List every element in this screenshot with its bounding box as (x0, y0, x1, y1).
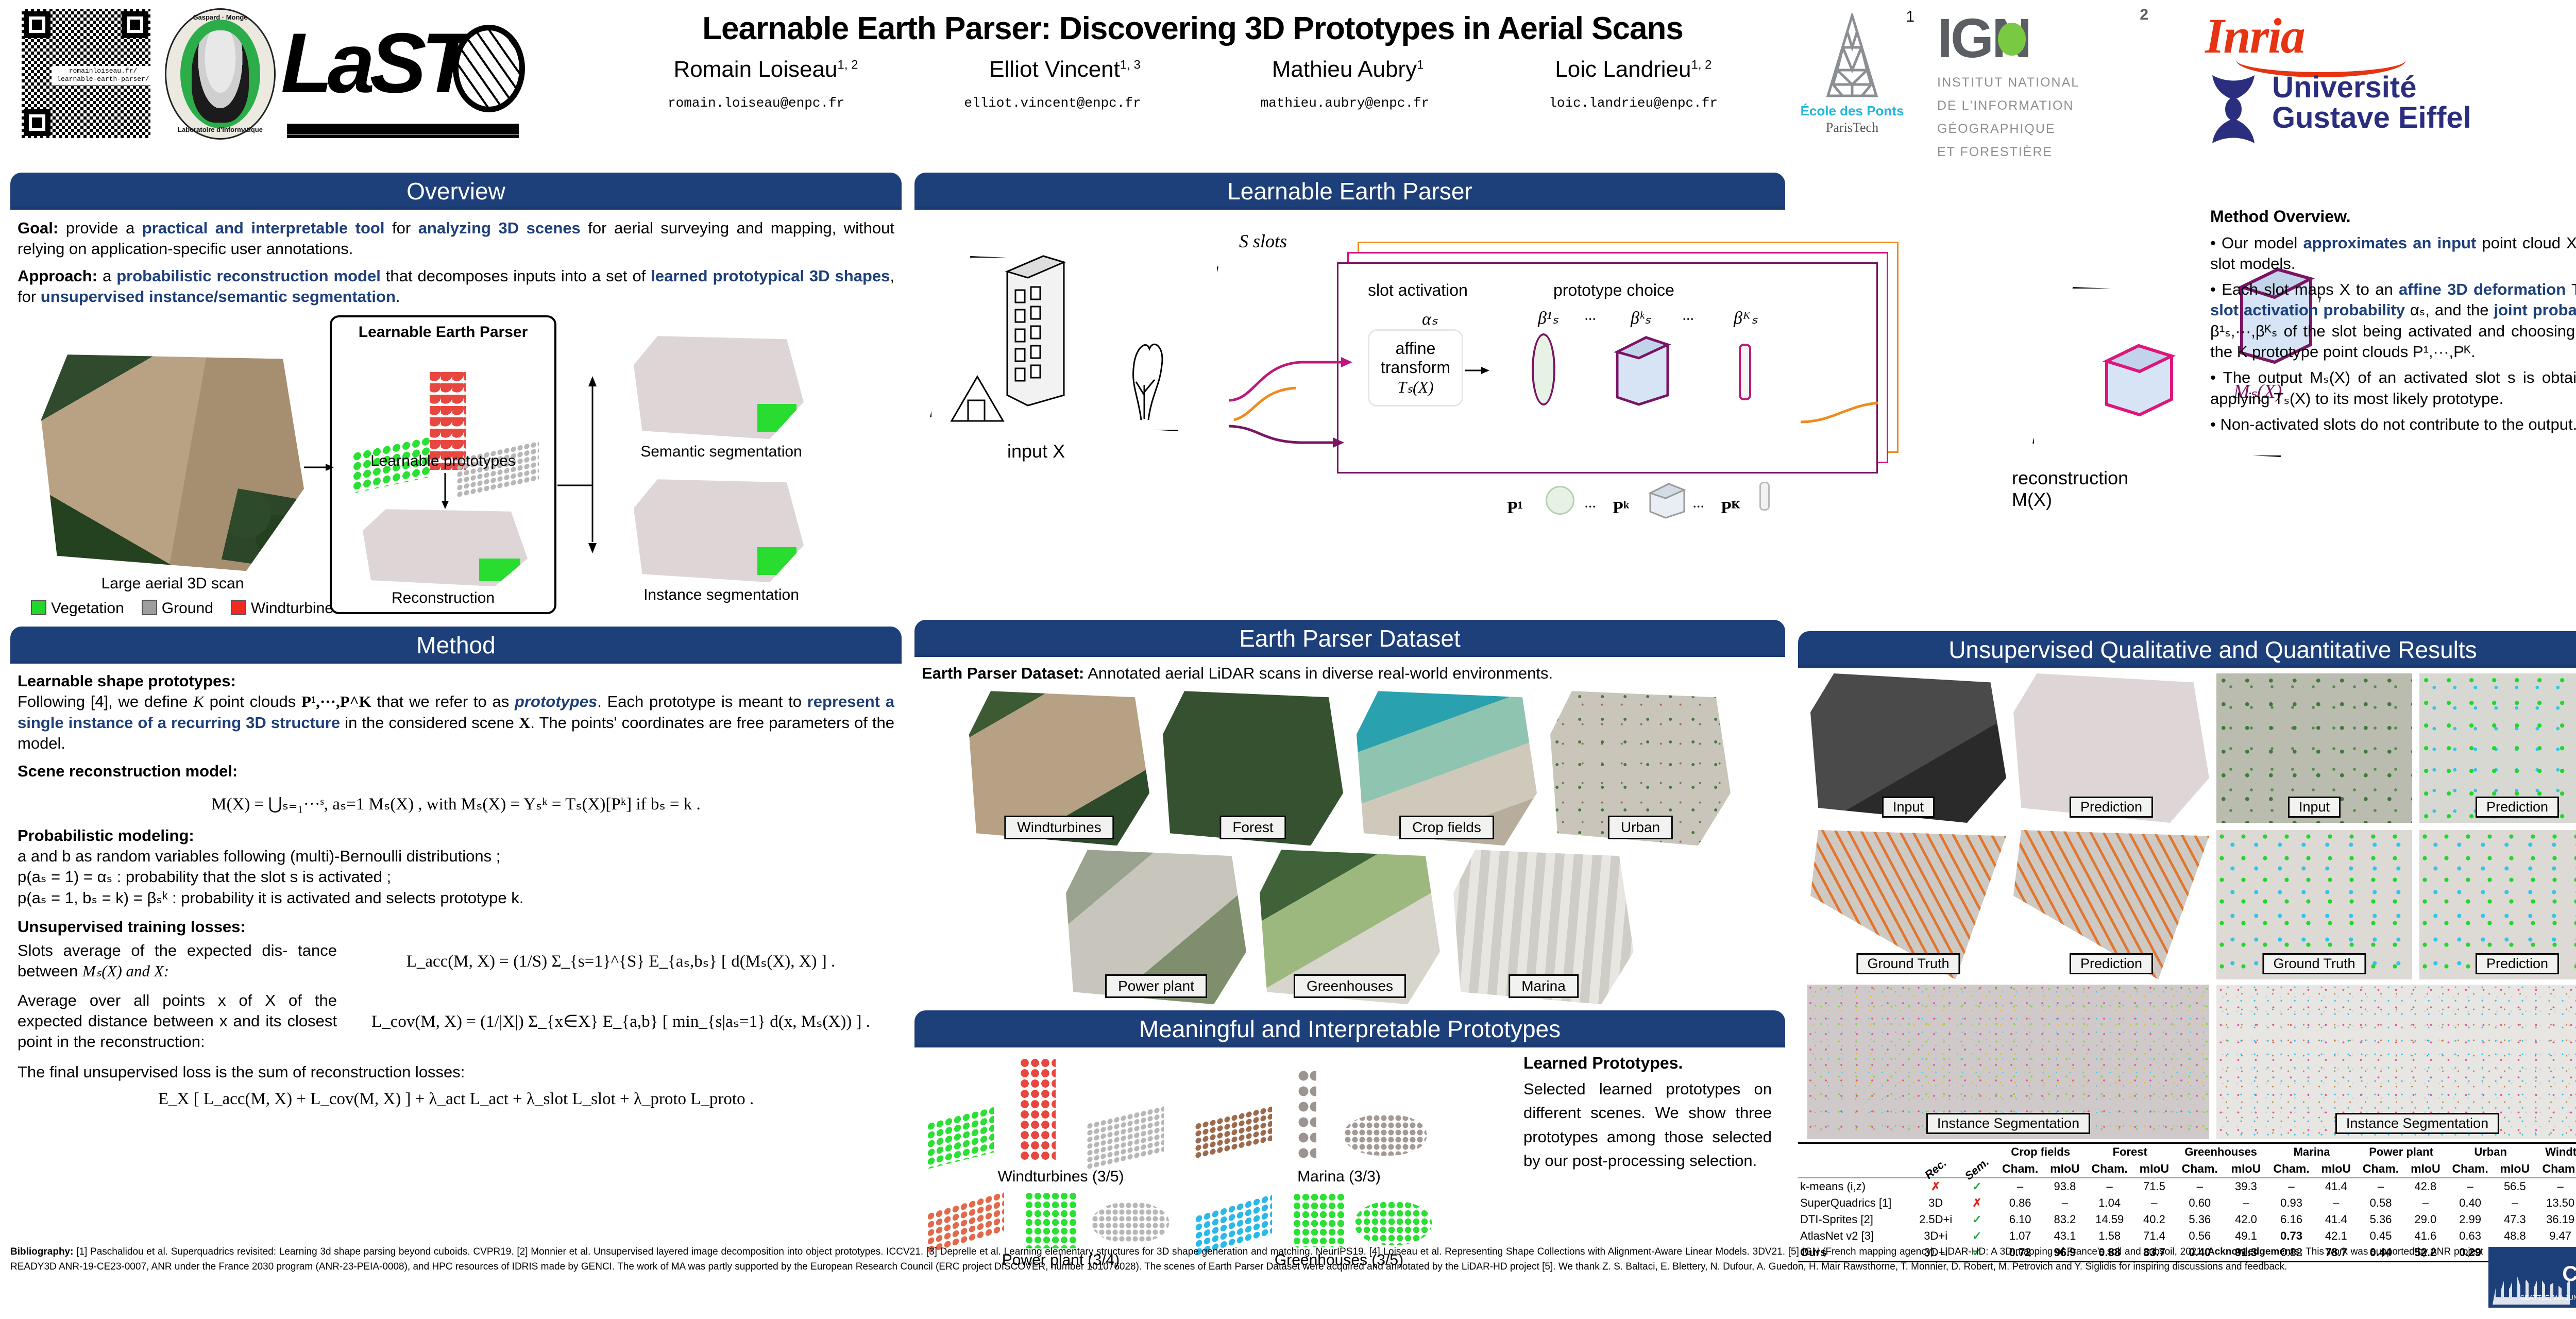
table-cell-value: 93.8 (2044, 1178, 2085, 1195)
table-cell-value: 0.86 (1996, 1195, 2044, 1211)
th-miou-0: mIoU (2044, 1160, 2085, 1178)
cvpr-subtitle: SEATTLE, WA JUNE 17-21, 2024 (2520, 1294, 2576, 1301)
enpc-name: École des Ponts (1793, 103, 1911, 119)
table-cell-value: 41.6 (2405, 1228, 2446, 1244)
overview-approach: Approach: a probabilistic reconstruction… (18, 266, 894, 308)
panel-title-method: Method (10, 627, 902, 664)
th-cham-6: Cham. (2535, 1160, 2576, 1178)
overview-goal: Goal: provide a practical and interpreta… (18, 218, 894, 260)
bibliography-label: Bibliography: (10, 1246, 73, 1257)
table-cell-value: 6.16 (2267, 1211, 2315, 1228)
table-cell-value: 83.2 (2044, 1211, 2085, 1228)
method-loss2-text: Average over all points x of X of the ex… (18, 990, 337, 1053)
th-miou-1: mIoU (2134, 1160, 2175, 1178)
result-label-5: Prediction (2070, 953, 2153, 974)
table-cell-sem: ✓ (1958, 1228, 1996, 1244)
legend-item-windturbine: Windturbine (231, 600, 333, 617)
table-cell-value: – (2225, 1195, 2267, 1211)
qr-code[interactable]: romainloiseau.fr/ learnable-earth-parser… (22, 9, 150, 138)
middle-column: Learnable Earth Parser (914, 173, 1785, 1269)
dataset-intro-label: Earth Parser Dataset: (922, 664, 1084, 682)
qr-caption: romainloiseau.fr/ learnable-earth-parser… (52, 66, 155, 85)
dataset-label-forest: Forest (1219, 816, 1286, 839)
table-header-scenes: Crop fields Forest Greenhouses Marina Po… (1798, 1143, 2576, 1161)
dataset-item-forest: Forest (1163, 691, 1343, 845)
result-label-9: Instance Segmentation (2335, 1113, 2499, 1134)
diagram-reconstruction-label: reconstruction M(X) (2012, 467, 2128, 511)
proto-greenhouse-veg (1293, 1193, 1344, 1247)
table-cell-rec: ✗ (1913, 1178, 1958, 1195)
affiliation-ign: IGN 2 INSTITUT NATIONAL DE L'INFORMATION… (1937, 10, 2133, 164)
prototypes-note-text: Selected learned prototypes on different… (1523, 1077, 1772, 1173)
result-label-0: Input (1882, 797, 1935, 818)
result-item-9: Instance Segmentation (2216, 985, 2576, 1139)
eiffel-tower-icon (1819, 13, 1886, 101)
legend-item-ground: Ground (142, 600, 213, 617)
overview-reconstruction-image (363, 509, 528, 586)
table-cell-value: – (2316, 1195, 2357, 1211)
affiliation-inria: Inria 3 (2205, 11, 2411, 73)
affiliation-enpc: 1 École des Ponts ParisTech (1793, 10, 1911, 136)
dataset-item-windturbines: Windturbines (969, 691, 1149, 845)
table-cell-value: 36.19 (2535, 1211, 2576, 1228)
table-cell-value: 0.56 (2175, 1228, 2225, 1244)
email-2[interactable]: mathieu.aubry@enpc.fr (1261, 95, 1430, 111)
th-cham-3: Cham. (2267, 1160, 2315, 1178)
qr-url-line1: romainloiseau.fr/ (52, 67, 155, 75)
ign-sub-2: GÉOGRAPHIQUE (1937, 117, 2133, 141)
th-marina: Marina (2267, 1143, 2357, 1161)
method-overview-bullet-2: • The output Mₛ(X) of an activated slot … (2210, 367, 2576, 409)
affiliation-ign-sup: 2 (2140, 7, 2146, 23)
dataset-row-1: Windturbines Forest Crop fields Urban (914, 691, 1785, 845)
acknowledgements-label: Acknowledgements: (2208, 1246, 2303, 1257)
th-miou-5: mIoU (2495, 1160, 2535, 1178)
author-1: Elliot Vincent1, 3 (989, 57, 1141, 82)
table-cell-value: 71.5 (2134, 1178, 2175, 1195)
result-item-6: Ground Truth (2216, 830, 2412, 979)
table-cell-value: – (2044, 1195, 2085, 1211)
proto-powerplant-ground (1092, 1202, 1169, 1243)
cvpr-name: CVPR (2562, 1261, 2576, 1286)
overview-box-title: Learnable Earth Parser (332, 324, 554, 341)
result-item-4: Ground Truth (1810, 830, 2006, 979)
poster-root: romainloiseau.fr/ learnable-earth-parser… (0, 0, 2576, 1319)
method-p1: Following [4], we define K point clouds … (18, 691, 894, 754)
table-cell-value: 29.0 (2405, 1211, 2446, 1228)
table-cell-value: 39.3 (2225, 1178, 2267, 1195)
result-label-4: Ground Truth (1856, 953, 1960, 974)
overview-instance-image (634, 479, 804, 582)
table-row-name: DTI-Sprites [2] (1798, 1211, 1913, 1228)
author-0: Romain Loiseau1, 2 (673, 57, 858, 82)
proto-powerplant-veg (1025, 1192, 1076, 1248)
author-3: Loic Landrieu1, 2 (1555, 57, 1711, 82)
th-cham-5: Cham. (2446, 1160, 2494, 1178)
th-cham-2: Cham. (2175, 1160, 2225, 1178)
panel-title-prototypes: Meaningful and Interpretable Prototypes (914, 1010, 1785, 1047)
dataset-label-urban: Urban (1608, 816, 1673, 839)
method-reconstruction-equation: M(X) = ⋃ₛ₌₁···ˢ, aₛ=1 Mₛ(X) , with Mₛ(X)… (18, 793, 894, 814)
table-cell-value: 0.45 (2357, 1228, 2405, 1244)
result-label-7: Prediction (2476, 953, 2559, 974)
email-0[interactable]: romain.loiseau@enpc.fr (668, 95, 844, 111)
table-cell-value: 14.59 (2085, 1211, 2133, 1228)
table-cell-value: 41.4 (2316, 1178, 2357, 1195)
table-cell-value: 5.36 (2357, 1211, 2405, 1228)
lama-logo-top-text: Gaspard · Monge (165, 13, 276, 21)
table-cell-value: – (2495, 1195, 2535, 1211)
th-urban: Urban (2446, 1143, 2535, 1161)
table-cell-rec: 2.5D+i (1913, 1211, 1958, 1228)
method-loss1-text: Slots average of the expected dis- tance… (18, 940, 337, 982)
table-cell-value: 71.4 (2134, 1228, 2175, 1244)
proto-marina-boat (1344, 1114, 1427, 1156)
table-cell-value: 0.73 (2267, 1228, 2315, 1244)
table-cell-value: – (2535, 1178, 2576, 1195)
ign-sub-3: ET FORESTIÈRE (1937, 141, 2133, 164)
table-cell-value: 0.60 (2175, 1195, 2225, 1211)
table-cell-value: 48.8 (2495, 1228, 2535, 1244)
method-pm1: a and b as random variables following (m… (18, 846, 894, 867)
overview-semantic-caption: Semantic segmentation (613, 443, 829, 461)
table-cell-rec: 3D (1913, 1195, 1958, 1211)
th-miou-4: mIoU (2405, 1160, 2446, 1178)
result-item-8: Instance Segmentation (1807, 985, 2209, 1139)
table-row-name: AtlasNet v2 [3] (1798, 1228, 1913, 1244)
cvpr-logo: CVPR SEATTLE, WA JUNE 17-21, 2024 (2488, 1247, 2576, 1308)
th-crop-fields: Crop fields (1996, 1143, 2086, 1161)
enpc-paristech: ParisTech (1793, 120, 1911, 136)
diagram-input-label: input X (1007, 441, 1065, 462)
table-cell-sem: ✓ (1958, 1178, 1996, 1195)
dataset-label-windturbines: Windturbines (1004, 816, 1114, 839)
dataset-item-marina: Marina (1453, 850, 1634, 1004)
table-cell-value: 42.0 (2225, 1211, 2267, 1228)
dataset-row-2: Power plant Greenhouses Marina (914, 850, 1785, 1004)
affiliation-enpc-sup: 1 (1906, 8, 1914, 26)
table-cell-value: 42.8 (2405, 1178, 2446, 1195)
result-label-1: Prediction (2070, 797, 2153, 818)
results-instance-grid: Instance Segmentation Instance Segmentat… (1798, 985, 2576, 1139)
dataset-intro: Earth Parser Dataset: Annotated aerial L… (922, 663, 1778, 684)
table-cell-value: – (2446, 1178, 2494, 1195)
result-label-8: Instance Segmentation (1926, 1113, 2090, 1134)
table-cell-value: – (2175, 1178, 2225, 1195)
table-cell-value: – (2357, 1178, 2405, 1195)
proto-ground-a (1087, 1106, 1164, 1170)
table-cell-value: 0.58 (2357, 1195, 2405, 1211)
method-loss-acc-equation: L_acc(M, X) = (1/S) Σ_{s=1}^{S} E_{aₛ,bₛ… (347, 951, 894, 971)
result-item-7: Prediction (2419, 830, 2576, 979)
overview-legend: Vegetation Ground Windturbine (31, 600, 333, 617)
table-row: SuperQuadrics [1]3D✗0.86–1.04–0.60–0.93–… (1798, 1195, 2576, 1211)
table-cell-value: 1.58 (2085, 1228, 2133, 1244)
globe-icon (453, 25, 525, 112)
ign-acronym: IGN 2 (1937, 10, 2133, 66)
method-overview-panel: Method Overview. • Our model approximate… (2210, 206, 2576, 435)
th-miou-2: mIoU (2225, 1160, 2267, 1178)
result-label-3: Prediction (2476, 797, 2559, 818)
table-cell-value: 43.1 (2044, 1228, 2085, 1244)
lastig-logo: LaSTI (281, 11, 528, 140)
overview-figure: Large aerial 3D scan Vegetation Ground W… (10, 310, 902, 619)
table-cell-value: 0.93 (2267, 1195, 2315, 1211)
th-miou-3: mIoU (2316, 1160, 2357, 1178)
overview-reconstruction-caption: Reconstruction (332, 589, 554, 607)
table-cell-value: – (1996, 1178, 2044, 1195)
legend-item-vegetation: Vegetation (31, 600, 124, 617)
overview-goal-label: Goal: (18, 219, 58, 237)
email-1[interactable]: elliot.vincent@enpc.fr (964, 95, 1141, 111)
result-item-3: Prediction (2419, 673, 2576, 823)
lep-diagram: input X S slots slot activation prototyp… (914, 210, 1785, 617)
table-cell-value: 9.47 (2535, 1228, 2576, 1244)
table-cell-value: 56.5 (2495, 1178, 2535, 1195)
table-cell-value: 1.04 (2085, 1195, 2133, 1211)
table-cell-value: 6.10 (1996, 1211, 2044, 1228)
diagram-s-slots-label: S slots (1239, 230, 1287, 252)
table-cell-value: 1.07 (1996, 1228, 2044, 1244)
method-overview-bullet-1: • Each slot maps X to an affine 3D defor… (2210, 279, 2576, 362)
bibliography-text: [1] Paschalidou et al. Superquadrics rev… (73, 1246, 2207, 1257)
method-final-text: The final unsupervised loss is the sum o… (18, 1062, 894, 1083)
table-cell-value: 40.2 (2134, 1211, 2175, 1228)
table-cell-value: – (2267, 1178, 2315, 1195)
result-item-5: Prediction (2013, 830, 2209, 979)
overview-semantic-image (634, 336, 804, 439)
overview-approach-label: Approach: (18, 267, 97, 285)
proto-marina-mast (1298, 1068, 1316, 1161)
dataset-item-power-plant: Power plant (1066, 850, 1246, 1004)
lama-logo: Gaspard · Monge Laboratoire d'informatiq… (165, 8, 276, 140)
method-pm3: p(aₛ = 1, bₛ = k) = βₛᵏ : probability it… (18, 888, 894, 908)
table-cell-value: 13.50 (2535, 1195, 2576, 1211)
proto-group-label-windturbines: Windturbines (3/5) (958, 1168, 1164, 1186)
overview-prototypes-caption: Learnable prototypes (332, 452, 554, 470)
uge-line2: Gustave Eiffel (2272, 103, 2576, 133)
table-cell-sem: ✓ (1958, 1211, 1996, 1228)
page-title: Learnable Earth Parser: Discovering 3D P… (608, 10, 1777, 47)
author-emails: romain.loiseau@enpc.fr elliot.vincent@en… (608, 95, 1777, 111)
email-3[interactable]: loic.landrieu@enpc.fr (1549, 95, 1718, 111)
panel-title-overview: Overview (10, 173, 902, 210)
dataset-label-power-plant: Power plant (1105, 974, 1207, 998)
table-cell-sem: ✗ (1958, 1195, 1996, 1211)
table-row: AtlasNet v2 [3]3D+i✓1.0743.11.5871.40.56… (1798, 1228, 2576, 1244)
table-row: DTI-Sprites [2]2.5D+i✓6.1083.214.5940.25… (1798, 1211, 2576, 1228)
table-header-metrics: Rec. Sem. Cham.mIoU Cham.mIoU Cham.mIoU … (1798, 1160, 2576, 1178)
method-final-equation: E_X [ L_acc(M, X) + L_cov(M, X) ] + λ_ac… (18, 1090, 894, 1109)
poster-header: romainloiseau.fr/ learnable-earth-parser… (0, 0, 2576, 170)
table-cell-value: 2.99 (2446, 1211, 2494, 1228)
th-power-plant: Power plant (2357, 1143, 2446, 1161)
method-overview-bullet-0: • Our model approximates an input point … (2210, 233, 2576, 275)
method-h2: Scene reconstruction model: (18, 761, 894, 782)
left-column: Overview Goal: provide a practical and i… (10, 173, 902, 1120)
table-row-name: k-means (i,z) (1798, 1178, 1913, 1195)
uge-mark-icon (2205, 73, 2262, 145)
ign-sub-1: DE L'INFORMATION (1937, 94, 2133, 117)
ign-subtitle: INSTITUT NATIONAL DE L'INFORMATION GÉOGR… (1937, 71, 2133, 164)
panel-title-lep: Learnable Earth Parser (914, 173, 1785, 210)
result-item-2: Input (2216, 673, 2412, 823)
result-label-2: Input (2288, 797, 2341, 818)
uge-line1: Université (2272, 72, 2576, 103)
table-cell-value: 5.36 (2175, 1211, 2225, 1228)
proto-group-label-marina: Marina (3/3) (1231, 1168, 1447, 1186)
prototypes-note-title: Learned Prototypes. (1523, 1053, 1772, 1074)
result-label-6: Ground Truth (2262, 953, 2366, 974)
proto-vegetation-a (927, 1106, 994, 1169)
table-cell-value: 0.40 (2446, 1195, 2494, 1211)
method-h3: Probabilistic modeling: (18, 825, 894, 846)
dataset-label-marina: Marina (1509, 974, 1579, 998)
table-cell-value: 47.3 (2495, 1211, 2535, 1228)
dataset-label-crop-fields: Crop fields (1399, 816, 1494, 839)
method-h1: Learnable shape prototypes: (18, 671, 894, 691)
table-cell-rec: 3D+i (1913, 1228, 1958, 1244)
th-cham-0: Cham. (1996, 1160, 2044, 1178)
table-row-name: SuperQuadrics [1] (1798, 1195, 1913, 1211)
method-overview-bullet-3: • Non-activated slots do not contribute … (2210, 414, 2576, 435)
overview-lep-box: Learnable Earth Parser Learnable prototy… (330, 315, 556, 614)
th-cham-4: Cham. (2357, 1160, 2405, 1178)
table-cell-value: 49.1 (2225, 1228, 2267, 1244)
table-cell-value: 41.4 (2316, 1211, 2357, 1228)
panel-title-results: Unsupervised Qualitative and Quantitativ… (1798, 631, 2576, 668)
inria-logo-text: Inria (2205, 11, 2411, 61)
ign-green-dot-icon (1998, 23, 2026, 56)
author-list: Romain Loiseau1, 2 Elliot Vincent1, 3 Ma… (608, 57, 1777, 82)
dataset-item-greenhouses: Greenhouses (1260, 850, 1440, 1004)
footer-bibliography: Bibliography: [1] Paschalidou et al. Sup… (10, 1244, 2483, 1275)
proto-marina-dock (1195, 1106, 1272, 1160)
table-cell-value: 42.1 (2316, 1228, 2357, 1244)
table-cell-value: – (2085, 1178, 2133, 1195)
overview-instance-caption: Instance segmentation (613, 586, 829, 604)
method-overview-title: Method Overview. (2210, 206, 2576, 228)
result-item-1: Prediction (2013, 673, 2209, 823)
proto-windturbine-a (1020, 1058, 1056, 1161)
method-pm2: p(aₛ = 1) = αₛ : probability that the sl… (18, 867, 894, 887)
th-cham-1: Cham. (2085, 1160, 2133, 1178)
table-cell-value: – (2134, 1195, 2175, 1211)
qr-url-line2: learnable-earth-parser/ (52, 75, 155, 83)
panel-title-dataset: Earth Parser Dataset (914, 620, 1785, 657)
aerial-scan-image (41, 354, 304, 571)
table-cell-value: – (2405, 1195, 2446, 1211)
th-greenhouses: Greenhouses (2175, 1143, 2267, 1161)
method-h4: Unsupervised training losses: (18, 917, 894, 937)
ign-sub-0: INSTITUT NATIONAL (1937, 71, 2133, 94)
table-cell-value: 0.63 (2446, 1228, 2494, 1244)
right-column-results: Unsupervised Qualitative and Quantitativ… (1798, 631, 2576, 1262)
overview-input-caption: Large aerial 3D scan (41, 575, 304, 593)
table-row: k-means (i,z)✗✓–93.8–71.5–39.3–41.4–42.8… (1798, 1178, 2576, 1195)
th-windturbines: Windturbines (2535, 1143, 2576, 1161)
lama-logo-bottom-text: Laboratoire d'informatique (165, 126, 276, 133)
affiliation-gustave-eiffel: Université Gustave Eiffel (2205, 72, 2576, 133)
dataset-item-urban: Urban (1550, 691, 1731, 845)
th-forest: Forest (2085, 1143, 2175, 1161)
author-2: Mathieu Aubry1 (1272, 57, 1424, 82)
dataset-label-greenhouses: Greenhouses (1294, 974, 1406, 998)
dataset-item-crop-fields: Crop fields (1357, 691, 1537, 845)
method-loss-cov-equation: L_cov(M, X) = (1/|X|) Σ_{x∈X} E_{a,b} [ … (347, 1011, 894, 1031)
result-item-0: Input (1810, 673, 2006, 823)
results-image-grid: Input Prediction Input Prediction Ground… (1798, 673, 2576, 979)
proto-greenhouse-ground (1354, 1201, 1432, 1245)
